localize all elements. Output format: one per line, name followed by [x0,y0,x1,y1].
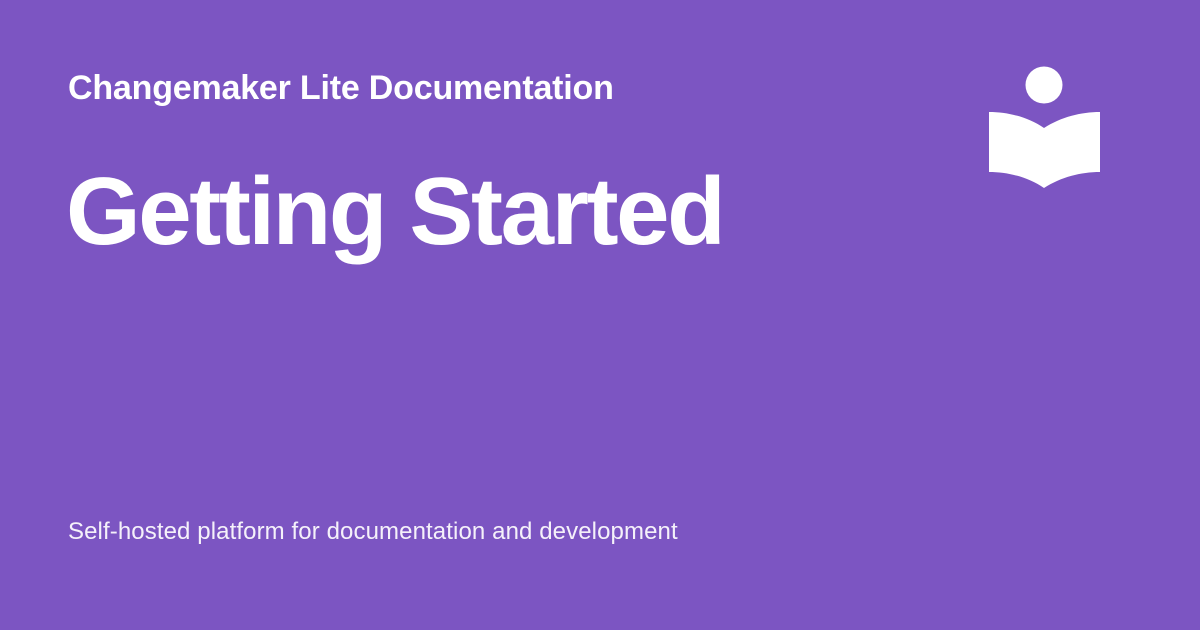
open-book-reader-icon [984,60,1106,194]
page-subtitle: Self-hosted platform for documentation a… [68,516,678,548]
og-share-card: Changemaker Lite Documentation Getting S… [0,0,1200,630]
site-title: Changemaker Lite Documentation [68,68,614,108]
page-title: Getting Started [66,160,723,264]
